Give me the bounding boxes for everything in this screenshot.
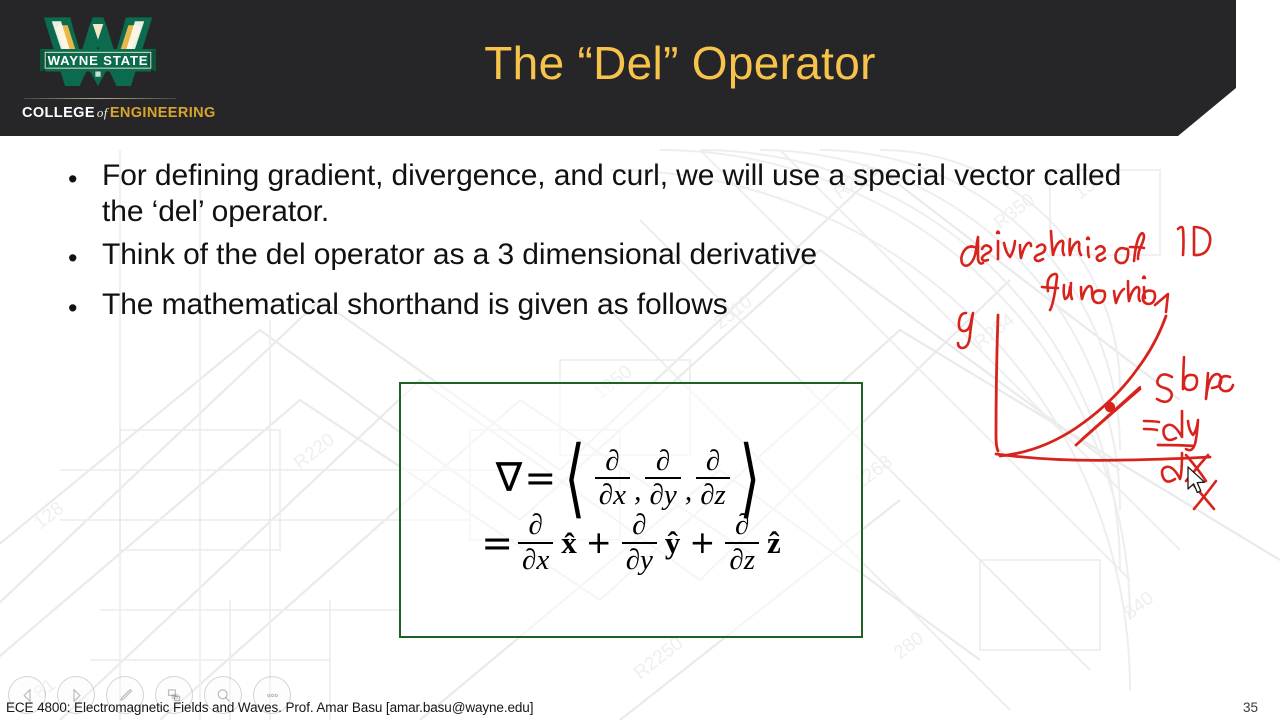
wayne-state-logo: WAYNE STATE COLLEGEofENGINEERING	[18, 6, 178, 124]
formula-line-1: ∇ = ⟨ ∂ ∂x , ∂ ∂y , ∂ ∂z	[496, 445, 767, 512]
logo-divider	[24, 98, 176, 99]
partial-y-fraction: ∂ ∂y	[642, 446, 683, 511]
angle-bracket-close: ⟩	[739, 445, 760, 512]
partial-y-fraction: ∂ ∂y	[619, 510, 660, 575]
svg-text:280: 280	[890, 628, 928, 664]
presentation-slide: 1950 R220 128 154 840 280 R2250 2510 R28…	[0, 0, 1280, 720]
comma-separator: ,	[633, 474, 643, 512]
logo-wordmark: WAYNE STATE	[48, 53, 149, 68]
formula-line-2: = ∂ ∂x x̂ + ∂ ∂y ŷ + ∂ ∂z	[479, 510, 783, 575]
angle-bracket-open: ⟨	[565, 445, 586, 512]
page-number: 35	[1243, 700, 1258, 715]
partial-z-fraction: ∂ ∂z	[693, 446, 733, 511]
logo-of-text: of	[95, 105, 110, 120]
unit-vector-x: x̂	[556, 525, 579, 561]
formula-content: ∇ = ⟨ ∂ ∂x , ∂ ∂y , ∂ ∂z	[401, 384, 861, 636]
partial-numerator: ∂	[702, 446, 724, 477]
tangent-point-marker	[1105, 402, 1115, 412]
bullet-text: The mathematical shorthand is given as f…	[102, 287, 1152, 323]
list-item: • Think of the del operator as a 3 dimen…	[62, 237, 1152, 280]
partial-x-fraction: ∂ ∂x	[515, 510, 556, 575]
logo-college-text: COLLEGE	[22, 105, 95, 121]
bullet-marker: •	[62, 237, 102, 280]
partial-numerator: ∂	[652, 446, 674, 477]
plus-symbol: +	[579, 525, 619, 561]
nabla-symbol: ∇	[496, 458, 523, 498]
partial-numerator: ∂	[601, 446, 623, 477]
partial-denominator-y: ∂y	[645, 480, 680, 511]
partial-denominator-z: ∂z	[696, 480, 730, 511]
footer-course-info: ECE 4800: Electromagnetic Fields and Wav…	[6, 700, 533, 715]
logo-engineering-text: ENGINEERING	[110, 105, 216, 121]
partial-x-fraction: ∂ ∂x	[592, 446, 633, 511]
del-operator-formula-box: ∇ = ⟨ ∂ ∂x , ∂ ∂y , ∂ ∂z	[399, 382, 863, 638]
svg-text:128: 128	[30, 498, 68, 534]
comma-separator: ,	[684, 474, 694, 512]
svg-text:840: 840	[1120, 588, 1158, 624]
partial-denominator-y: ∂y	[622, 545, 657, 576]
partial-numerator: ∂	[628, 510, 650, 541]
svg-text:R220: R220	[290, 429, 339, 474]
list-item: • For defining gradient, divergence, and…	[62, 158, 1152, 230]
partial-denominator-x: ∂x	[518, 545, 553, 576]
bullet-marker: •	[62, 158, 102, 201]
unit-vector-z: ẑ	[762, 525, 783, 561]
equals-symbol: =	[522, 456, 558, 500]
svg-text:R2250: R2250	[630, 633, 687, 684]
slide-title: The “Del” Operator	[190, 36, 1170, 90]
list-item: • The mathematical shorthand is given as…	[62, 287, 1152, 330]
bullet-marker: •	[62, 287, 102, 330]
logo-subtitle: COLLEGEofENGINEERING	[22, 105, 178, 121]
bullet-text: For defining gradient, divergence, and c…	[102, 158, 1142, 230]
unit-vector-y: ŷ	[660, 525, 683, 561]
partial-denominator-z: ∂z	[725, 545, 759, 576]
bullet-text: Think of the del operator as a 3 dimensi…	[102, 237, 1152, 273]
wayne-state-w-shield-icon: WAYNE STATE	[32, 8, 164, 94]
bullet-list: • For defining gradient, divergence, and…	[62, 158, 1152, 337]
plus-symbol: +	[682, 525, 722, 561]
mouse-cursor-icon	[1186, 466, 1208, 496]
partial-numerator: ∂	[524, 510, 546, 541]
equals-symbol: =	[479, 521, 515, 565]
partial-denominator-x: ∂x	[595, 480, 630, 511]
